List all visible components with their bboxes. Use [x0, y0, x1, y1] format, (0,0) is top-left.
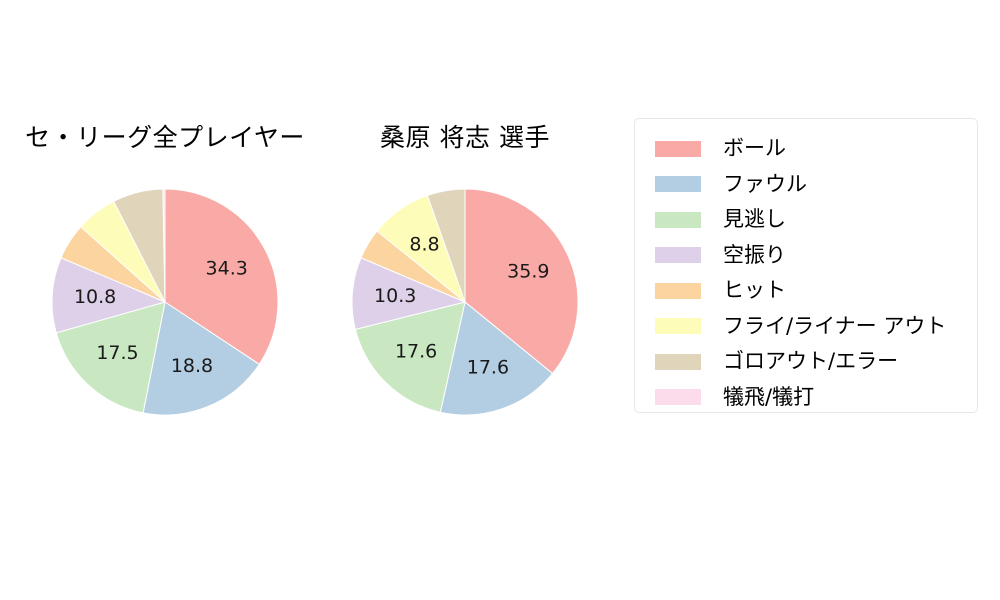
legend-item[interactable]: フライ/ライナー アウト — [635, 309, 977, 345]
legend-color-swatch — [655, 176, 701, 192]
legend-item[interactable]: 犠飛/犠打 — [635, 380, 977, 416]
league-chart-title: セ・リーグ全プレイヤー — [0, 118, 330, 154]
pie-chart-figure: セ・リーグ全プレイヤー 34.318.817.510.8 桑原 将志 選手 35… — [0, 0, 1000, 600]
legend-item-label: ゴロアウト/エラー — [723, 351, 898, 372]
player-pie-chart: 35.917.617.610.38.8 — [345, 182, 585, 422]
legend-item-label: 空振り — [723, 245, 786, 266]
legend-item[interactable]: 空振り — [635, 238, 977, 274]
player-pie-wrapper: 35.917.617.610.38.8 — [300, 182, 630, 422]
legend-item[interactable]: ゴロアウト/エラー — [635, 344, 977, 380]
pie-slice-label: 10.3 — [374, 285, 416, 307]
league-pie-wrapper: 34.318.817.510.8 — [0, 182, 330, 422]
legend-item-label: ヒット — [723, 280, 786, 301]
pie-slice-label: 35.9 — [507, 261, 549, 283]
pie-slice-label: 10.8 — [74, 286, 116, 308]
pie-slice-label: 17.6 — [467, 357, 509, 379]
pie-slice-label: 8.8 — [409, 233, 439, 255]
pie-slice-label: 34.3 — [206, 257, 248, 279]
pie-slice-label: 17.6 — [395, 341, 437, 363]
legend-color-swatch — [655, 389, 701, 405]
legend-item[interactable]: ヒット — [635, 273, 977, 309]
legend-color-swatch — [655, 212, 701, 228]
legend-color-swatch — [655, 318, 701, 334]
pie-slice-label: 17.5 — [96, 342, 138, 364]
legend-item-label: ファウル — [723, 174, 807, 195]
legend-color-swatch — [655, 283, 701, 299]
legend-color-swatch — [655, 247, 701, 263]
player-pie-panel: 桑原 将志 選手 35.917.617.610.38.8 — [300, 0, 630, 600]
league-pie-chart: 34.318.817.510.8 — [45, 182, 285, 422]
league-pie-panel: セ・リーグ全プレイヤー 34.318.817.510.8 — [0, 0, 330, 600]
legend-color-swatch — [655, 354, 701, 370]
legend-item-label: ボール — [723, 138, 786, 159]
legend-item[interactable]: ボール — [635, 131, 977, 167]
legend-item[interactable]: 見逃し — [635, 202, 977, 238]
legend-item-label: フライ/ライナー アウト — [723, 316, 946, 337]
pie-slice-label: 18.8 — [171, 355, 213, 377]
legend-item-label: 犠飛/犠打 — [723, 387, 814, 408]
legend-color-swatch — [655, 141, 701, 157]
legend: ボールファウル見逃し空振りヒットフライ/ライナー アウトゴロアウト/エラー犠飛/… — [634, 118, 978, 413]
player-chart-title: 桑原 将志 選手 — [300, 118, 630, 154]
legend-item-label: 見逃し — [723, 209, 786, 230]
legend-item[interactable]: ファウル — [635, 167, 977, 203]
